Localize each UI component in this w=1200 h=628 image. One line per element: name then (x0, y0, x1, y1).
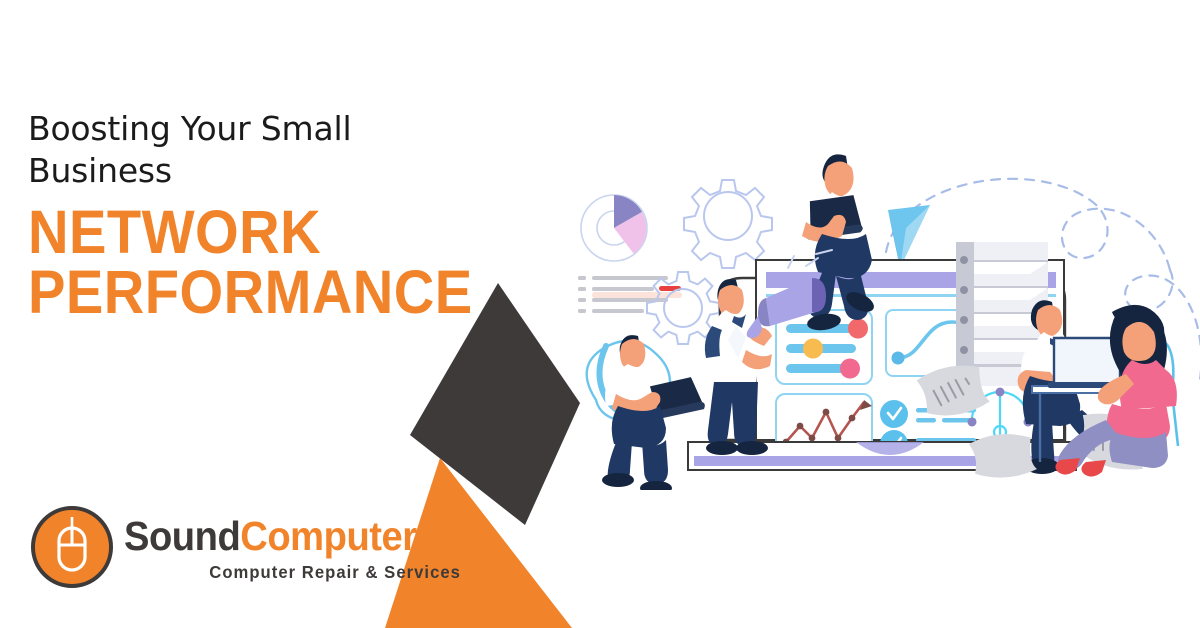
headline-block: Boosting Your Small Business NETWORK PER… (28, 108, 448, 323)
gear-large-outline-icon (684, 180, 772, 268)
logo-brand-name: SoundComputers (124, 516, 437, 557)
text-lines-block-icon (578, 276, 682, 313)
logo-tagline: Computer Repair & Services (141, 562, 461, 583)
subhead-text: Boosting Your Small Business (28, 108, 368, 191)
donut-chart-icon (581, 195, 647, 261)
emphasis-line-performance: PERFORMANCE (28, 263, 414, 323)
emphasis-line-network: NETWORK (28, 203, 414, 263)
paper-airplane-icon (888, 205, 930, 268)
logo-brand-part-computers: Computers (240, 513, 437, 559)
logo-wordmark: SoundComputers Computer Repair & Service… (124, 516, 461, 583)
logo-brand-part-sound: Sound (124, 513, 240, 559)
team-analytics-illustration (560, 150, 1200, 490)
brand-logo[interactable]: SoundComputers Computer Repair & Service… (30, 505, 461, 589)
banner-canvas: Boosting Your Small Business NETWORK PER… (0, 0, 1200, 628)
computer-mouse-icon (30, 505, 114, 589)
